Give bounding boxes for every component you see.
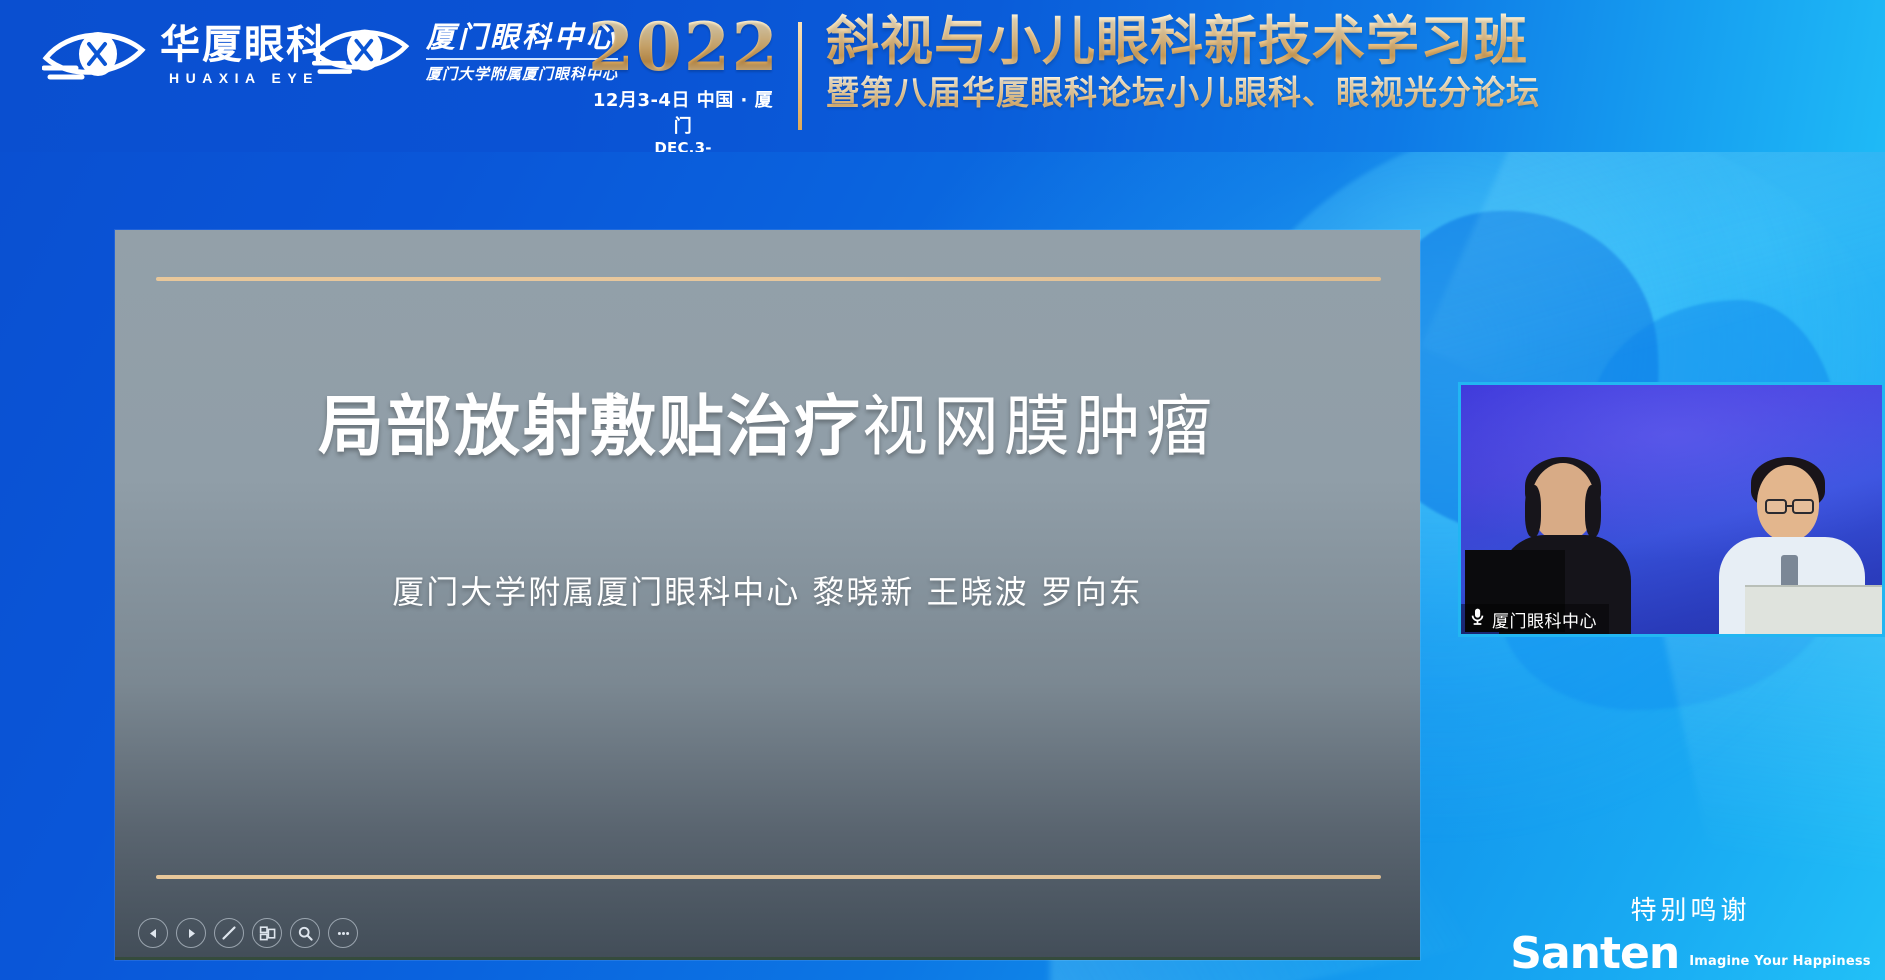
speaker-right-glasses xyxy=(1765,499,1787,514)
magnifier-icon xyxy=(297,925,314,942)
sponsor-thanks-text: 特别鸣谢 xyxy=(1496,890,1885,927)
sponsor-logo: Santen Imagine Your Happiness xyxy=(1496,933,1885,975)
slide-title-strong: 局部放射敷贴治疗 xyxy=(318,388,862,465)
more-options-button[interactable] xyxy=(328,918,358,948)
slide-authors: 厦门大学附属厦门眼科中心 黎晓新 王晓波 罗向东 xyxy=(115,567,1420,613)
eye-logo-icon xyxy=(312,22,416,84)
huaxia-logo-en: HUAXIA EYE xyxy=(169,70,319,86)
speaker-right-glasses-bridge xyxy=(1787,505,1793,507)
annotate-button[interactable] xyxy=(214,918,244,948)
speaker-right-glasses xyxy=(1792,499,1814,514)
event-date-cn: 12月3-4日 中国 · 厦门 xyxy=(588,86,778,138)
slide-bottom-accent xyxy=(115,957,1420,960)
event-banner: 华厦眼科 HUAXIA EYE 厦门眼科中心 xyxy=(0,0,1885,152)
event-title-block: 斜视与小儿眼科新技术学习班 暨第八届华厦眼科论坛小儿眼科、眼视光分论坛 xyxy=(826,12,1540,113)
pen-icon xyxy=(220,924,238,942)
presentation-slide[interactable]: 局部放射敷贴治疗视网膜肿瘤 厦门大学附属厦门眼科中心 黎晓新 王晓波 罗向东 xyxy=(115,230,1420,960)
event-title: 斜视与小儿眼科新技术学习班 xyxy=(826,12,1540,71)
speaker-left-hair-side xyxy=(1585,485,1601,537)
speaker-right-laptop xyxy=(1745,585,1885,637)
huaxia-eye-logo: 华厦眼科 HUAXIA EYE xyxy=(42,24,328,86)
video-name-label: 厦门眼科中心 xyxy=(1461,604,1609,634)
slide-rule-bottom xyxy=(156,875,1381,879)
slide-rule-top xyxy=(156,277,1381,281)
previous-slide-button[interactable] xyxy=(138,918,168,948)
thumbnails-button[interactable] xyxy=(252,918,282,948)
event-date-en: DEC.3-4,2021,XIAMEN,CHINA xyxy=(588,139,778,152)
huaxia-logo-cn: 华厦眼科 xyxy=(160,24,328,66)
ellipsis-icon xyxy=(335,925,352,942)
banner-divider xyxy=(798,22,802,130)
triangle-right-icon xyxy=(185,927,198,940)
livestream-screen: 华厦眼科 HUAXIA EYE 厦门眼科中心 xyxy=(0,0,1885,980)
speaker-video-overlay[interactable]: 厦门眼科中心 xyxy=(1458,382,1885,637)
xiamen-eye-center-logo: 厦门眼科中心 厦门大学附属厦门眼科中心 xyxy=(312,22,618,84)
speaker-left-hair-side xyxy=(1525,485,1541,537)
triangle-left-icon xyxy=(147,927,160,940)
video-label-text: 厦门眼科中心 xyxy=(1492,607,1597,632)
event-year: 2022 xyxy=(588,14,778,80)
sponsor-tagline: Imagine Your Happiness xyxy=(1689,954,1871,975)
event-subtitle: 暨第八届华厦眼科论坛小儿眼科、眼视光分论坛 xyxy=(826,74,1540,113)
eye-logo-icon xyxy=(42,24,146,86)
event-date-block: 2022 12月3-4日 中国 · 厦门 DEC.3-4,2021,XIAMEN… xyxy=(588,14,778,152)
slide-title-light: 视网膜肿瘤 xyxy=(862,388,1217,465)
next-slide-button[interactable] xyxy=(176,918,206,948)
microphone-icon xyxy=(1470,607,1485,631)
layers-icon xyxy=(259,925,276,942)
sponsor-block: 特别鸣谢 Santen Imagine Your Happiness xyxy=(1496,890,1885,975)
zoom-button[interactable] xyxy=(290,918,320,948)
slide-title: 局部放射敷贴治疗视网膜肿瘤 xyxy=(115,390,1420,464)
slide-toolbar xyxy=(138,918,358,948)
sponsor-brand-name: Santen xyxy=(1510,933,1679,975)
